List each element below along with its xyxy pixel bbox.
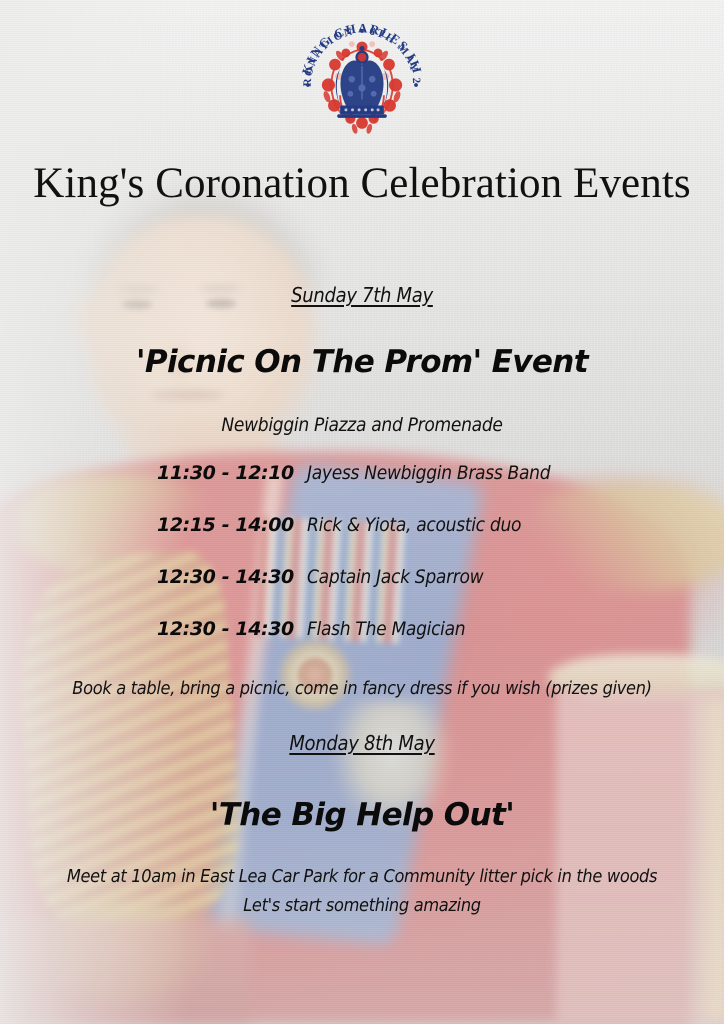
schedule-act: Flash The Magician (307, 618, 567, 640)
poster-content: KING CHARLES III CORONATION • 6TH MAY 20… (0, 0, 724, 1024)
schedule-row: 12:15 - 14:00 Rick & Yiota, acoustic duo (0, 514, 724, 566)
schedule-act: Captain Jack Sparrow (307, 566, 567, 588)
schedule-act: Rick & Yiota, acoustic duo (307, 514, 567, 536)
event-venue: Newbiggin Piazza and Promenade (0, 414, 724, 436)
coronation-emblem-icon: KING CHARLES III CORONATION • 6TH MAY 20… (289, 12, 435, 158)
date-heading-monday: Monday 8th May (0, 731, 724, 755)
schedule-time: 12:30 - 14:30 (157, 618, 307, 640)
big-help-out-details: Meet at 10am in East Lea Car Park for a … (0, 866, 724, 887)
schedule-row: 11:30 - 12:10 Jayess Newbiggin Brass Ban… (0, 462, 724, 514)
page-title: King's Coronation Celebration Events (30, 160, 694, 208)
schedule-row: 12:30 - 14:30 Captain Jack Sparrow (0, 566, 724, 618)
schedule-time: 12:15 - 14:00 (157, 514, 307, 536)
schedule-time: 11:30 - 12:10 (157, 462, 307, 484)
schedule-act: Jayess Newbiggin Brass Band (307, 462, 567, 484)
schedule-list: 11:30 - 12:10 Jayess Newbiggin Brass Ban… (0, 462, 724, 670)
big-help-out-slogan: Let's start something amazing (0, 895, 724, 916)
poster: KING CHARLES III CORONATION • 6TH MAY 20… (0, 0, 724, 1024)
event-title-picnic-on-the-prom: 'Picnic On The Prom' Event (0, 344, 724, 380)
schedule-time: 12:30 - 14:30 (157, 566, 307, 588)
schedule-row: 12:30 - 14:30 Flash The Magician (0, 618, 724, 670)
footer: Funded by Northumberland (0, 932, 724, 1024)
emblem-container: KING CHARLES III CORONATION • 6TH MAY 20… (0, 12, 724, 158)
date-heading-sunday: Sunday 7th May (0, 283, 724, 307)
event-title-the-big-help-out: 'The Big Help Out' (0, 797, 724, 833)
booking-note: Book a table, bring a picnic, come in fa… (0, 678, 724, 699)
